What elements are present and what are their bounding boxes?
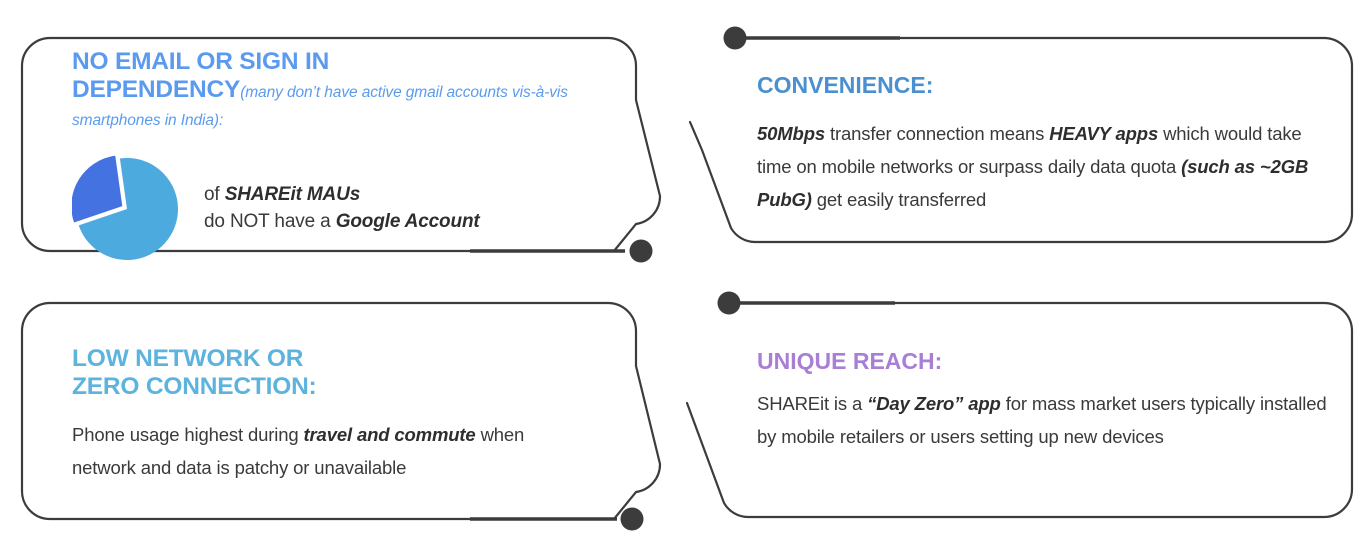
card3-heading: LOW NETWORK OR ZERO CONNECTION: bbox=[72, 345, 592, 401]
pie-chart-google-account bbox=[72, 154, 182, 264]
pie-caption-line2: do NOT have a Google Account bbox=[204, 209, 480, 236]
card1-pie-row: of SHAREit MAUs do NOT have a Google Acc… bbox=[72, 154, 592, 264]
card-no-email-or-sign-in-dependency: NO EMAIL OR SIGN IN DEPENDENCY(many don’… bbox=[72, 48, 592, 264]
infographic-canvas: NO EMAIL OR SIGN IN DEPENDENCY(many don’… bbox=[0, 0, 1372, 558]
card-convenience: CONVENIENCE: 50Mbps transfer connection … bbox=[757, 72, 1327, 217]
card2-body: 50Mbps transfer connection means HEAVY a… bbox=[757, 118, 1327, 217]
connector-dot-card3 bbox=[621, 508, 644, 531]
pie-caption-line1-bold: SHAREit MAUs bbox=[225, 184, 360, 205]
pie-caption-line1-prefix: of bbox=[204, 184, 225, 205]
card2-heading: CONVENIENCE: bbox=[757, 72, 1327, 98]
card1-heading-line2: DEPENDENCY bbox=[72, 76, 240, 103]
card1-heading-line1: NO EMAIL OR SIGN IN bbox=[72, 48, 329, 75]
card3-heading-line2: ZERO CONNECTION: bbox=[72, 373, 317, 400]
card3-heading-line1: LOW NETWORK OR bbox=[72, 345, 303, 372]
card4-heading: UNIQUE REACH: bbox=[757, 348, 1337, 374]
pie-slice-has-google-account bbox=[72, 155, 122, 222]
connector-dot-card4 bbox=[718, 292, 741, 315]
pie-caption-line2-bold: Google Account bbox=[336, 211, 480, 232]
card-unique-reach: UNIQUE REACH: SHAREit is a “Day Zero” ap… bbox=[757, 348, 1337, 454]
card3-body: Phone usage highest during travel and co… bbox=[72, 419, 592, 485]
card1-heading: NO EMAIL OR SIGN IN DEPENDENCY(many don’… bbox=[72, 48, 592, 132]
connector-dot-card1 bbox=[630, 240, 653, 263]
card1-pie-caption: of SHAREit MAUs do NOT have a Google Acc… bbox=[204, 182, 480, 236]
pie-caption-line2-prefix: do NOT have a bbox=[204, 211, 336, 232]
pie-chart-svg bbox=[72, 154, 182, 264]
card-low-network-or-zero-connection: LOW NETWORK OR ZERO CONNECTION: Phone us… bbox=[72, 345, 592, 485]
card4-body: SHAREit is a “Day Zero” app for mass mar… bbox=[757, 388, 1337, 454]
pie-caption-line1: of SHAREit MAUs bbox=[204, 182, 480, 209]
connector-dot-card2 bbox=[724, 27, 747, 50]
